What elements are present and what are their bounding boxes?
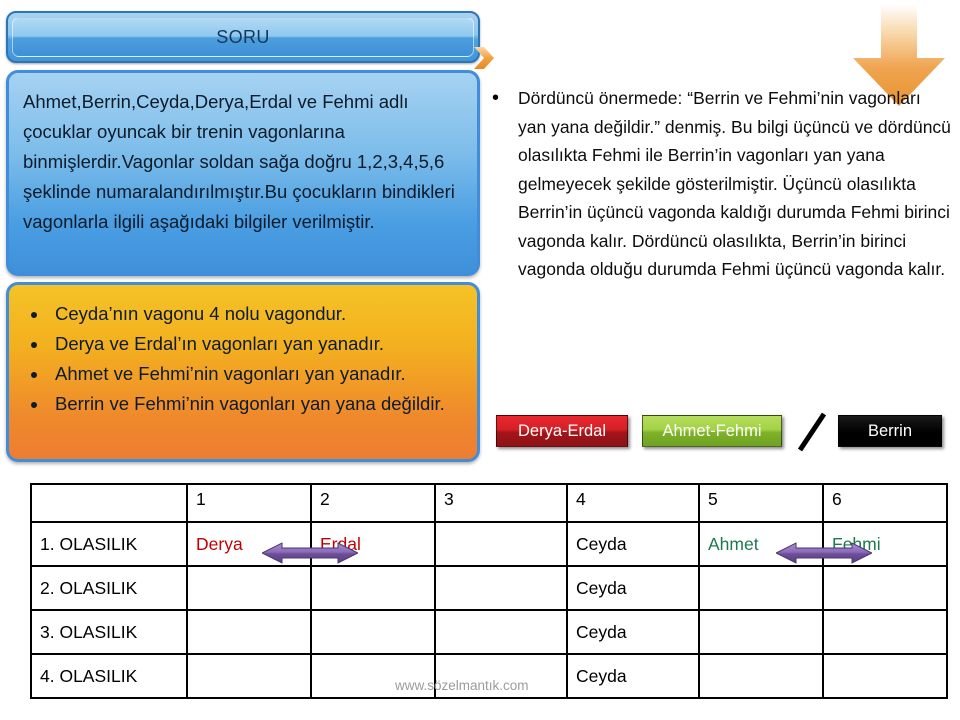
- cell-r2c3: [435, 566, 567, 610]
- cell-r4c6: [823, 654, 947, 698]
- cell-r1c3: [435, 522, 567, 566]
- table-row: 2. OLASILIK Ceyda: [31, 566, 947, 610]
- cell-r3c4: Ceyda: [567, 610, 699, 654]
- possibility-table: 1 2 3 4 5 6 1. OLASILIK Derya Erdal Ceyd…: [30, 483, 948, 699]
- cell-r4c5: [699, 654, 823, 698]
- explanation-text: Dördüncü önermede: “Berrin ve Fehmi’nin …: [518, 84, 952, 284]
- table-header-cell-blank: [31, 484, 187, 522]
- table-header-cell-1: 1: [187, 484, 311, 522]
- legend-badge-label: Derya-Erdal: [518, 422, 606, 441]
- row-label: 2. OLASILIK: [31, 566, 187, 610]
- table-header-cell-6: 6: [823, 484, 947, 522]
- chevron-right-icon: [472, 43, 496, 73]
- legend-badge-berrin: Berrin: [838, 415, 942, 447]
- table-header-cell-4: 4: [567, 484, 699, 522]
- table-header-row: 1 2 3 4 5 6: [31, 484, 947, 522]
- table-header-cell-5: 5: [699, 484, 823, 522]
- question-body-box: Ahmet,Berrin,Ceyda,Derya,Erdal ve Fehmi …: [6, 70, 480, 276]
- cell-r3c5: [699, 610, 823, 654]
- list-item: Ceyda’nın vagonu 4 nolu vagondur.: [49, 299, 461, 329]
- list-item: Berrin ve Fehmi’nin vagonları yan yana d…: [49, 389, 461, 419]
- cell-r4c4: Ceyda: [567, 654, 699, 698]
- cell-r1c4: Ceyda: [567, 522, 699, 566]
- cell-r1c1: Derya: [187, 522, 311, 566]
- table-row: 3. OLASILIK Ceyda: [31, 610, 947, 654]
- list-item: Derya ve Erdal’ın vagonları yan yanadır.: [49, 329, 461, 359]
- cell-r2c1: [187, 566, 311, 610]
- table-row: 1. OLASILIK Derya Erdal Ceyda Ahmet Fehm…: [31, 522, 947, 566]
- list-item: Ahmet ve Fehmi’nin vagonları yan yanadır…: [49, 359, 461, 389]
- question-body-text: Ahmet,Berrin,Ceyda,Derya,Erdal ve Fehmi …: [23, 87, 463, 237]
- slash-separator-icon: [796, 410, 830, 454]
- cell-r3c3: [435, 610, 567, 654]
- cell-r3c1: [187, 610, 311, 654]
- watermark: www.sözelmantık.com: [395, 678, 529, 693]
- legend-badge-ahmet-fehmi: Ahmet-Fehmi: [642, 415, 782, 447]
- cell-r3c2: [311, 610, 435, 654]
- table-header-cell-2: 2: [311, 484, 435, 522]
- cell-r1c5: Ahmet: [699, 522, 823, 566]
- question-header-box: SORU: [6, 11, 480, 63]
- explanation-block: • Dördüncü önermede: “Berrin ve Fehmi’ni…: [492, 84, 952, 284]
- legend-badge-label: Ahmet-Fehmi: [662, 422, 761, 441]
- page-title: SORU: [216, 27, 270, 48]
- row-label: 4. OLASILIK: [31, 654, 187, 698]
- cell-r1c6: Fehmi: [823, 522, 947, 566]
- cell-r1c2: Erdal: [311, 522, 435, 566]
- cell-r2c6: [823, 566, 947, 610]
- cell-r2c4: Ceyda: [567, 566, 699, 610]
- legend-badge-derya-erdal: Derya-Erdal: [496, 415, 628, 447]
- bullet-icon: •: [492, 88, 499, 108]
- cell-r4c1: [187, 654, 311, 698]
- cell-r2c5: [699, 566, 823, 610]
- row-label: 3. OLASILIK: [31, 610, 187, 654]
- question-header-inner: SORU: [12, 17, 474, 57]
- cell-r3c6: [823, 610, 947, 654]
- cell-r2c2: [311, 566, 435, 610]
- clues-list: Ceyda’nın vagonu 4 nolu vagondur. Derya …: [9, 285, 477, 419]
- legend-badge-label: Berrin: [868, 422, 912, 441]
- clues-box: Ceyda’nın vagonu 4 nolu vagondur. Derya …: [6, 282, 480, 462]
- table-header-cell-3: 3: [435, 484, 567, 522]
- row-label: 1. OLASILIK: [31, 522, 187, 566]
